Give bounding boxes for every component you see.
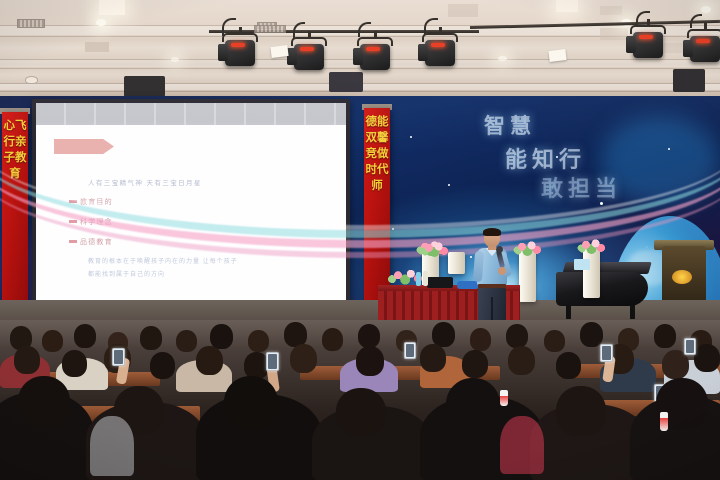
audience-head [196,346,223,375]
audience-shoulders [90,416,134,476]
piano-body [556,272,648,306]
white-streamer [0,60,720,230]
light-cable [424,18,438,34]
ceiling-light [96,19,106,26]
column-flowers [420,241,450,258]
audience-head [62,350,87,377]
bullet-marker-icon [69,240,77,243]
table-bottle [423,271,428,286]
table-equipment-box [427,277,453,288]
audience-head [508,346,535,375]
audience-seating [0,320,720,480]
audience-phone[interactable] [404,342,416,359]
audience-head [580,322,603,347]
light-cable [293,22,305,38]
audience-head [18,376,70,428]
ceiling-light [171,57,179,62]
ceiling-vent [17,19,45,28]
audience-head [42,330,63,352]
audience-head [462,350,488,378]
audience-head [224,376,278,430]
audience-head [446,378,500,432]
audience-head [506,324,528,348]
ceiling-speaker [673,69,705,92]
ceiling-panel [600,6,622,15]
audience-head [556,352,581,379]
flower-column [519,250,536,302]
flower-column [448,252,465,274]
stage-light [690,36,720,62]
audience-phone[interactable] [266,352,279,371]
audience-head [694,344,720,372]
ceiling-light [498,56,507,61]
audience-head [654,324,676,348]
audience-head [556,386,606,436]
audience-head [420,344,446,372]
piano-bench-light [574,259,590,270]
presenter-hand [498,267,506,275]
audience-head [150,352,175,379]
audience-head [290,344,317,373]
auditorium-scene: 智慧 能知行 敢担当 人有三宝精气神 天有三宝日月星 教育目的 科学理念 [0,0,720,480]
ceiling-panel [600,28,628,40]
microphone-head-icon [496,246,503,253]
ceiling-panel [85,42,109,52]
audience-head [140,326,162,350]
ceiling-light [99,0,125,15]
water-bottle [500,390,508,406]
table-bottle [416,272,421,286]
audience-shoulders [500,416,544,474]
light-cable [690,14,702,28]
audience-head [176,330,197,352]
audience-head [14,346,40,374]
ceiling-dome-light [25,76,38,84]
audience-phone[interactable] [600,344,613,362]
cable-tag [270,45,288,58]
ceiling-light [701,6,711,13]
ceiling-panel [448,4,478,17]
audience-head [248,330,269,352]
podium-emblem-icon [672,270,692,284]
audience-head [358,324,380,348]
audience-head [356,346,384,376]
presenter-belt [478,284,506,288]
slide-footer-line: 都能找到属于自己的方向 [88,269,165,278]
audience-head [544,330,565,352]
light-cable [358,22,371,37]
water-bottle [660,412,668,431]
stage-light [225,40,255,66]
audience-head [322,328,343,351]
cable-tag [548,49,566,62]
ceiling-panel [660,43,684,53]
presenter-hair [483,228,501,236]
truss-vent [254,25,286,33]
column-flowers [513,240,543,257]
slide-footer-line: 教育的根本在于唤醒孩子内在的力量 让每个孩子 [88,256,238,265]
audience-head [210,324,233,349]
stage-light [633,32,663,58]
slide-bullet: 品德教育 [80,237,113,247]
audience-phone[interactable] [112,348,125,366]
flower-column [583,248,600,298]
audience-phone[interactable] [684,338,696,355]
column-flowers [577,238,607,255]
audience-head [74,324,96,348]
slide-bullet-label: 品德教育 [80,239,113,246]
audience-head [470,328,491,351]
grand-piano [556,262,648,316]
audience-head [336,388,386,436]
presenter [472,229,512,330]
ceiling-light [556,0,578,12]
